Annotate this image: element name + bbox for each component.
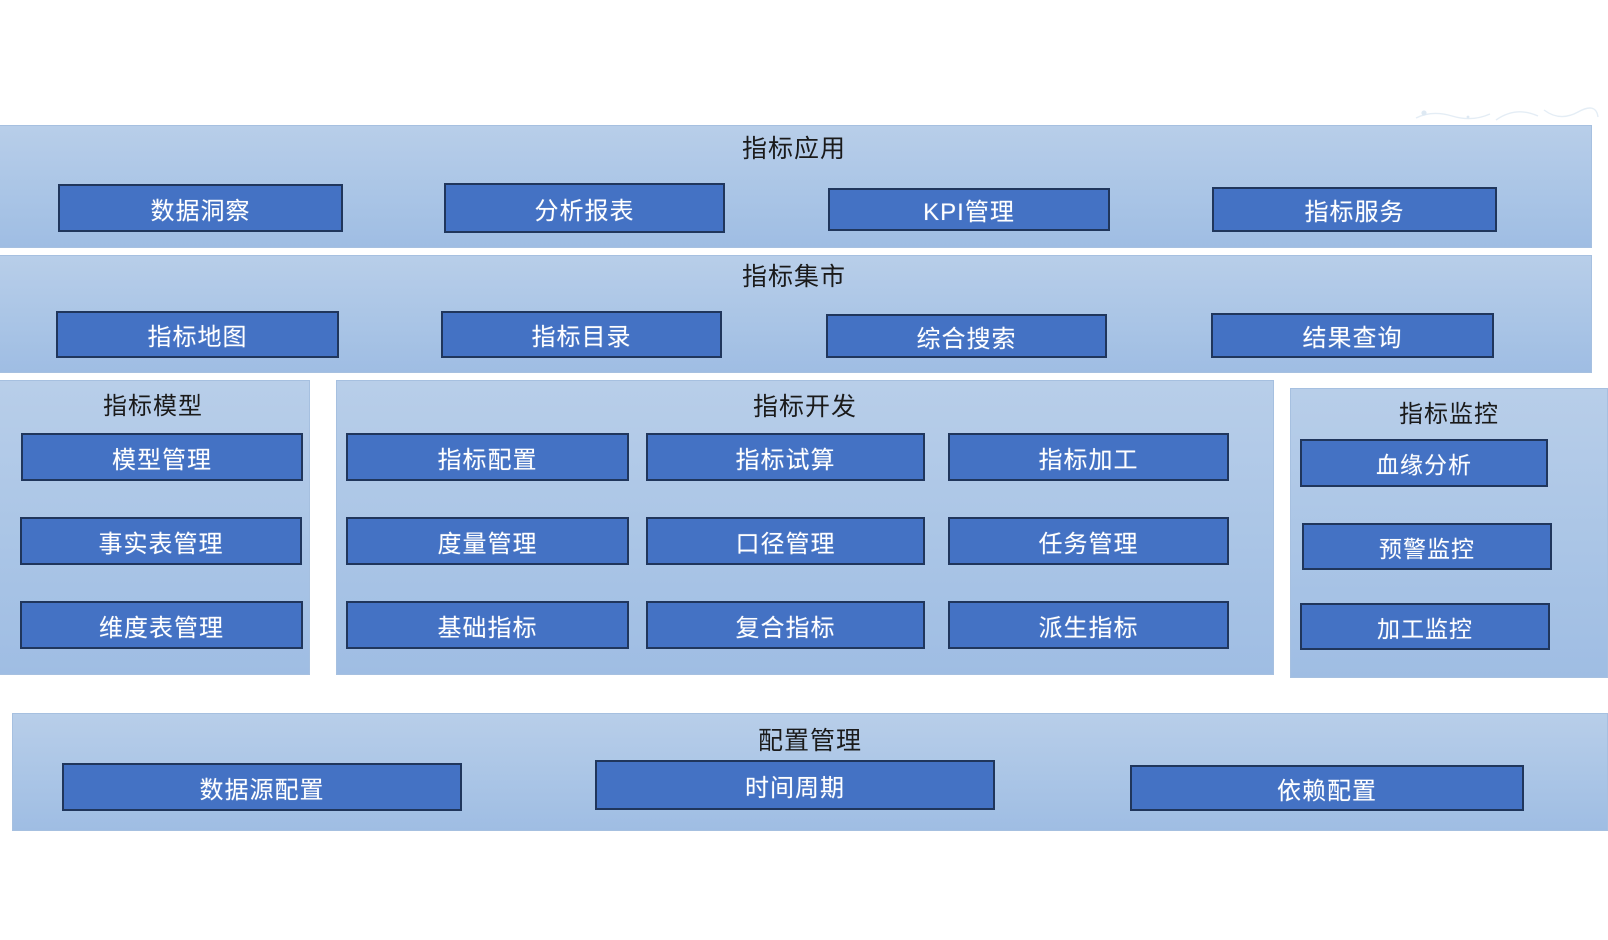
node-button-analysis-report[interactable]: 分析报表: [444, 183, 725, 233]
layer-title-development: 指标开发: [337, 392, 1273, 422]
node-button-alert-monitoring[interactable]: 预警监控: [1302, 523, 1552, 570]
node-button-indicator-service[interactable]: 指标服务: [1212, 187, 1497, 232]
layer-title-monitor: 指标监控: [1291, 400, 1607, 430]
layer-title-app: 指标应用: [0, 134, 1591, 164]
layer-title-model: 指标模型: [0, 392, 309, 422]
layer-title-mart: 指标集市: [0, 262, 1591, 292]
node-button-dimension-table-management[interactable]: 维度表管理: [20, 601, 303, 649]
node-button-derived-indicator[interactable]: 派生指标: [948, 601, 1229, 649]
node-button-indicator-catalog[interactable]: 指标目录: [441, 311, 722, 358]
node-button-composite-indicator[interactable]: 复合指标: [646, 601, 925, 649]
architecture-diagram-canvas: 指标应用 数据洞察 分析报表 KPI管理 指标服务 指标集市 指标地图 指标目录…: [0, 0, 1608, 940]
node-button-comprehensive-search[interactable]: 综合搜索: [826, 314, 1107, 358]
node-button-lineage-analysis[interactable]: 血缘分析: [1300, 439, 1548, 487]
node-button-measure-management[interactable]: 度量管理: [346, 517, 629, 565]
node-button-indicator-trial-calculation[interactable]: 指标试算: [646, 433, 925, 481]
node-button-caliber-management[interactable]: 口径管理: [646, 517, 925, 565]
node-button-indicator-map[interactable]: 指标地图: [56, 311, 339, 358]
node-button-dependency-configuration[interactable]: 依赖配置: [1130, 765, 1524, 811]
node-button-data-insight[interactable]: 数据洞察: [58, 184, 343, 232]
node-button-indicator-configuration[interactable]: 指标配置: [346, 433, 629, 481]
node-button-processing-monitoring[interactable]: 加工监控: [1300, 603, 1550, 650]
node-button-time-period[interactable]: 时间周期: [595, 760, 995, 810]
node-button-basic-indicator[interactable]: 基础指标: [346, 601, 629, 649]
node-button-fact-table-management[interactable]: 事实表管理: [20, 517, 302, 565]
layer-title-config: 配置管理: [13, 726, 1607, 756]
node-button-indicator-processing[interactable]: 指标加工: [948, 433, 1229, 481]
node-button-model-management[interactable]: 模型管理: [21, 433, 303, 481]
node-button-kpi-management[interactable]: KPI管理: [828, 188, 1110, 231]
node-button-datasource-configuration[interactable]: 数据源配置: [62, 763, 462, 811]
node-button-result-query[interactable]: 结果查询: [1211, 313, 1494, 358]
node-button-task-management[interactable]: 任务管理: [948, 517, 1229, 565]
